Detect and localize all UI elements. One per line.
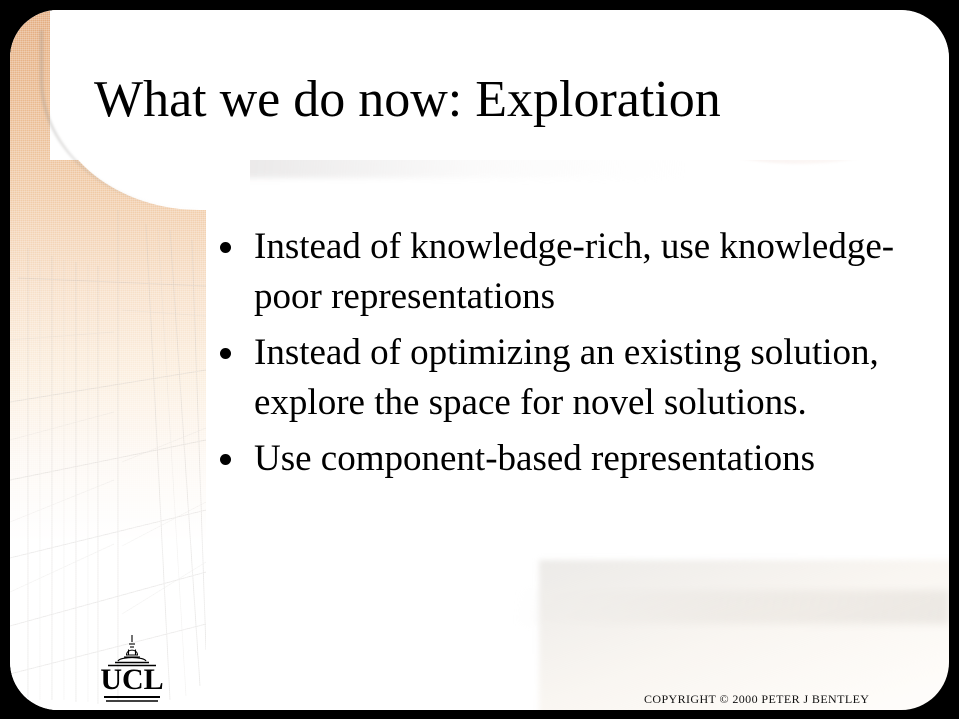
bullet-dot-icon	[220, 454, 231, 465]
bullet-dot-icon	[220, 242, 231, 253]
copyright-notice: COPYRIGHT © 2000 PETER J BENTLEY	[644, 691, 869, 707]
ucl-logo: UCL	[88, 635, 176, 705]
slide-title: What we do now: Exploration	[94, 72, 721, 128]
bullet-dot-icon	[220, 348, 231, 359]
list-item: Use component-based representations	[212, 434, 902, 484]
slide-page-surface: What we do now: Exploration Instead of k…	[10, 10, 949, 710]
ucl-wordmark: UCL	[88, 665, 176, 695]
slide-body: Instead of knowledge-rich, use knowledge…	[212, 222, 902, 490]
slide-canvas: What we do now: Exploration Instead of k…	[0, 0, 959, 719]
list-item: Instead of knowledge-rich, use knowledge…	[212, 222, 902, 322]
bullet-text: Instead of knowledge-rich, use knowledge…	[254, 222, 902, 322]
bullet-text: Instead of optimizing an existing soluti…	[254, 328, 902, 428]
bullet-text: Use component-based representations	[254, 434, 902, 484]
list-item: Instead of optimizing an existing soluti…	[212, 328, 902, 428]
ucl-base-lines-icon	[88, 695, 176, 705]
decor-blob-bottom-right	[539, 560, 949, 710]
